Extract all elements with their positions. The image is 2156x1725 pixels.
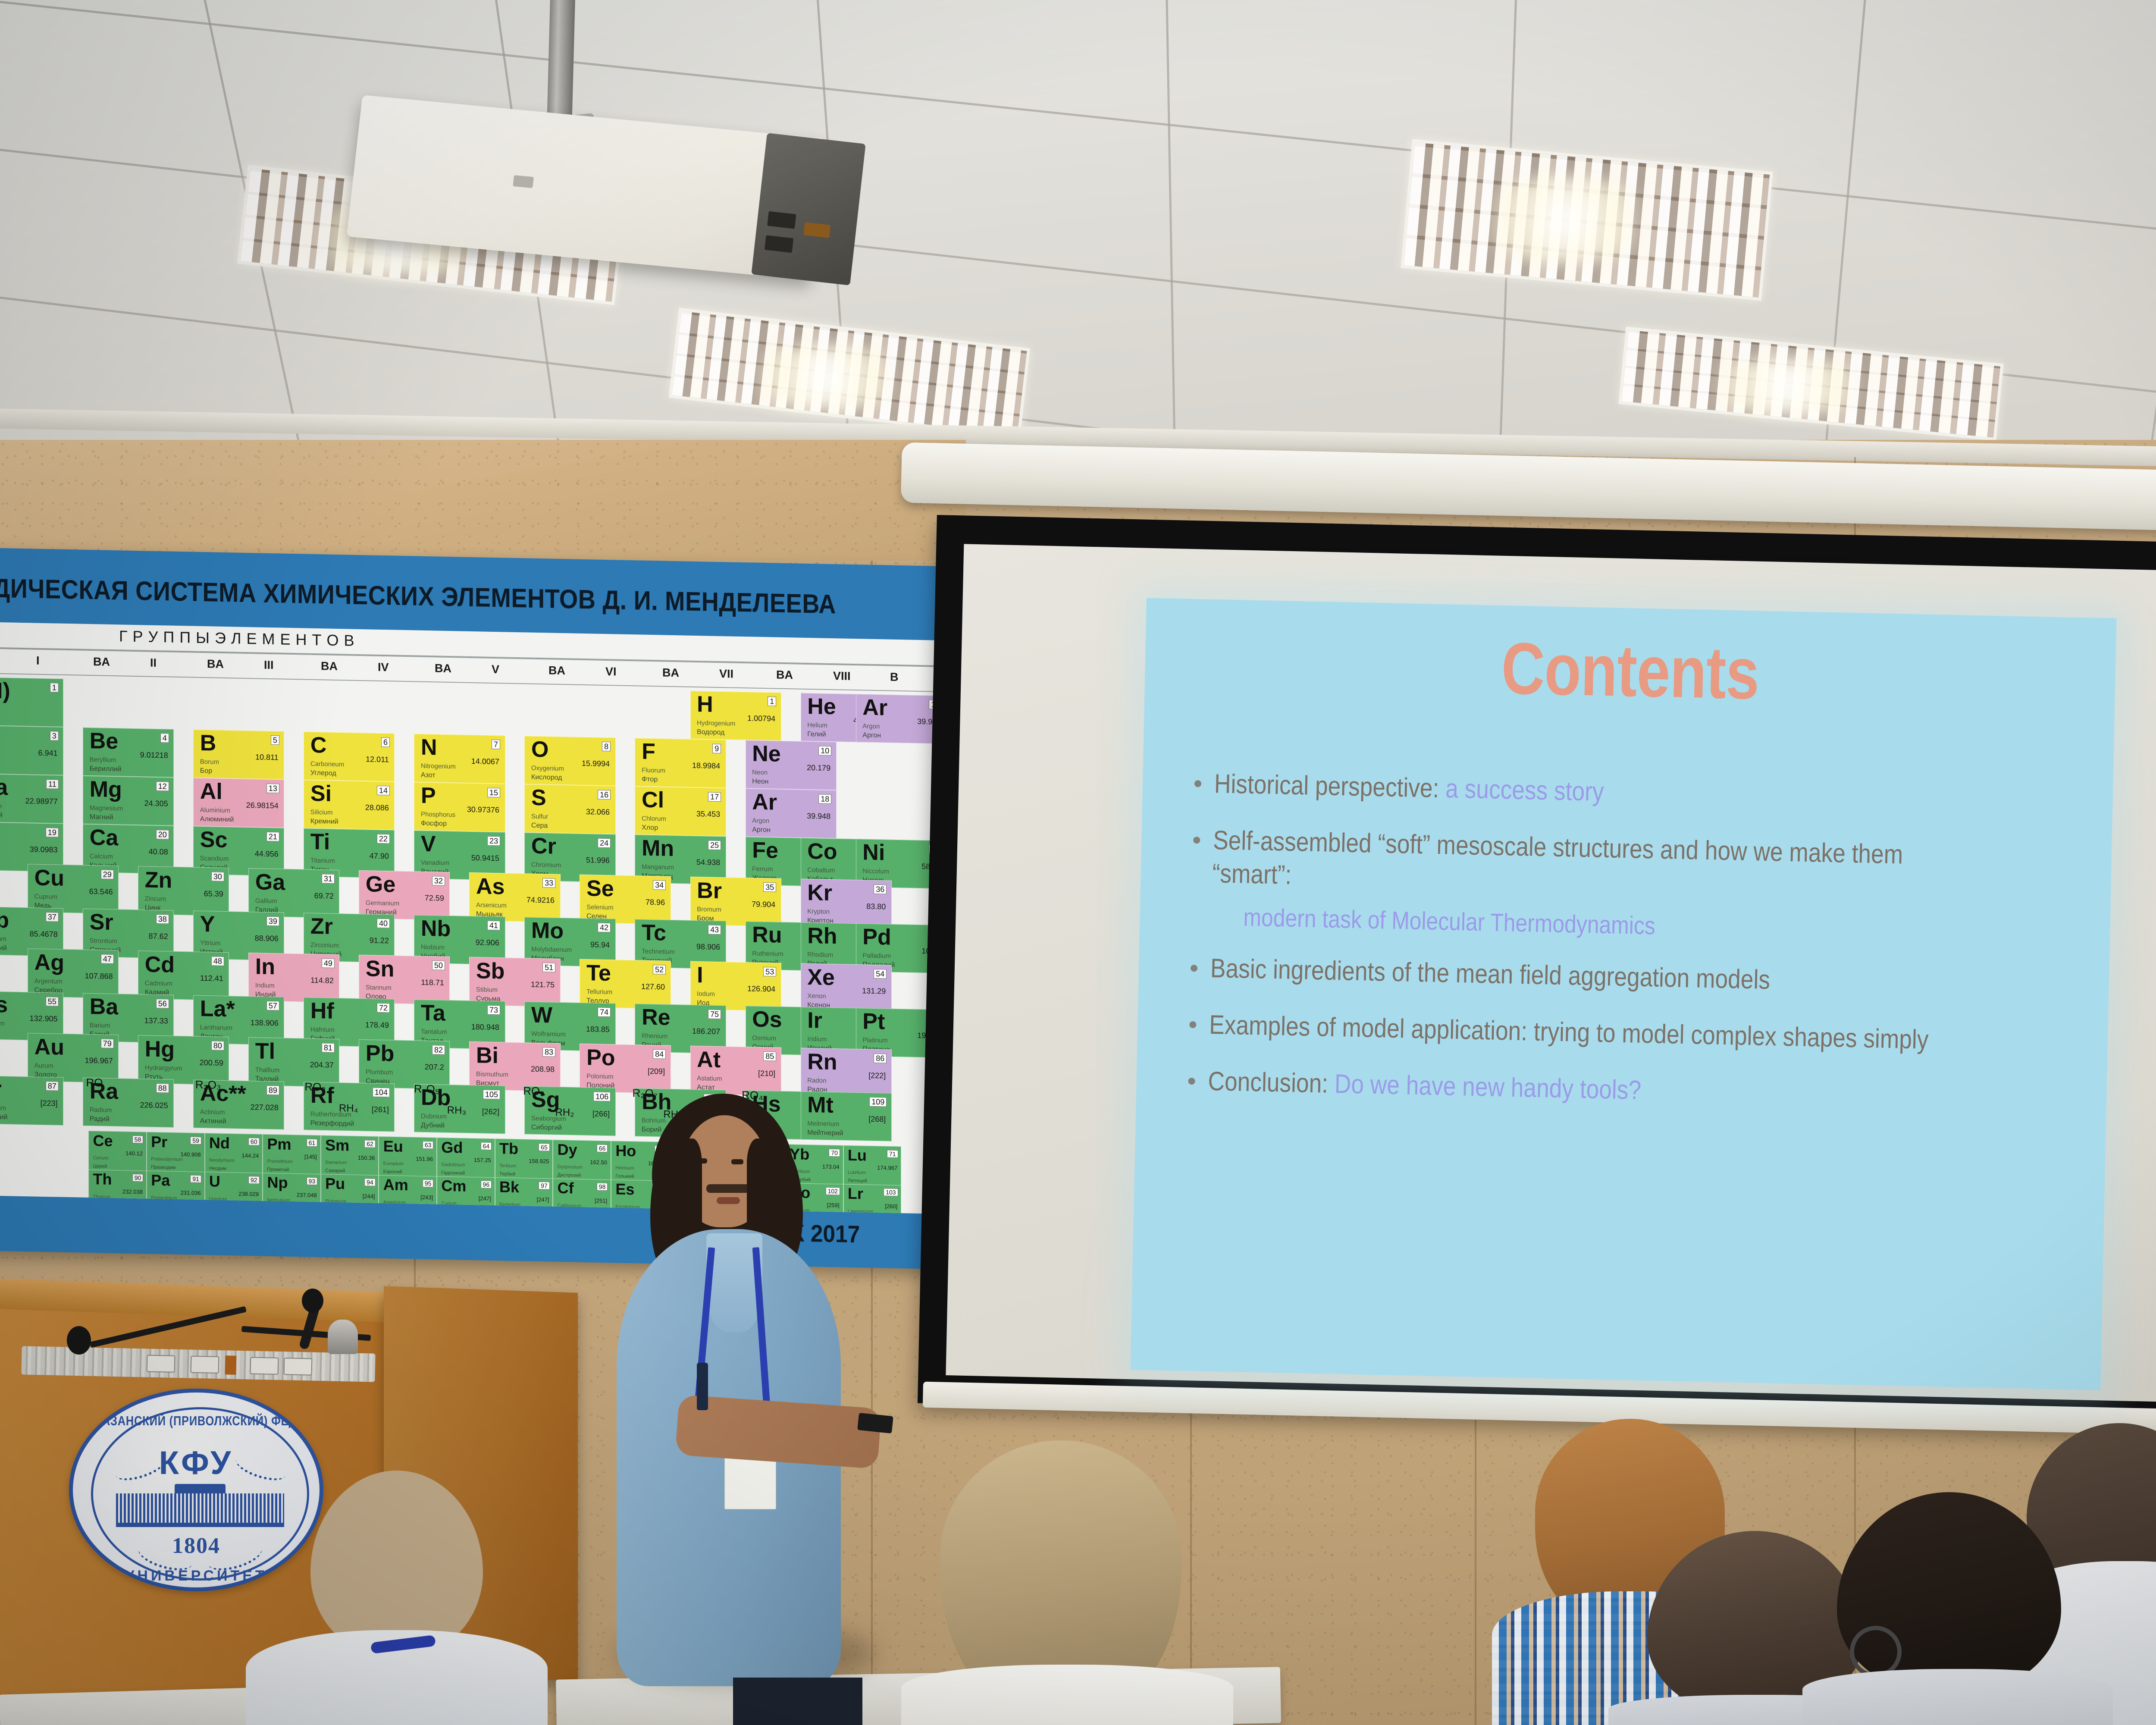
element-name-latin: Technetium <box>642 948 675 955</box>
slide-bullet-text: Conclusion: Do we have new handy tools? <box>1208 1065 1948 1114</box>
element-number: 23 <box>487 836 500 846</box>
element-symbol: Pr <box>151 1134 167 1150</box>
element-number: 72 <box>377 1003 390 1013</box>
element-number: 80 <box>211 1041 224 1051</box>
element-name-latin: Indium <box>255 982 275 989</box>
element-mass: 98.906 <box>696 943 720 951</box>
element-symbol: Bi <box>476 1044 498 1067</box>
element-name-latin: Wolframium <box>531 1031 566 1038</box>
element-name-latin: Stannum <box>366 984 392 991</box>
element-name-russian: Празеодим <box>151 1165 175 1170</box>
element-symbol: Cr <box>531 835 556 858</box>
element-mass: [261] <box>372 1105 389 1113</box>
presenter-mustache <box>706 1184 749 1193</box>
element-number: 58 <box>132 1135 144 1143</box>
slide-bullet-text: Examples of model application: trying to… <box>1209 1009 1949 1057</box>
element-symbol: Fr <box>0 1078 2 1101</box>
element-number: 12 <box>156 781 169 791</box>
element-name-latin: Thallium <box>255 1066 280 1073</box>
hydride-formula: RH₃ <box>447 1104 466 1117</box>
lecture-hall-photo: ПЕРИОДИЧЕСКАЯ СИСТЕМА ХИМИЧЕСКИХ ЭЛЕМЕНТ… <box>0 0 2156 1725</box>
element-mass: 138.906 <box>251 1019 279 1027</box>
element-name-russian: Кюрий <box>441 1209 455 1214</box>
element-symbol: P <box>421 784 436 807</box>
element-cell: Eu63151.96EuropiumЕвропий <box>379 1136 437 1178</box>
element-cell: Ag47107.868ArgentumСеребро <box>28 948 119 998</box>
projector-rear-panel <box>751 133 865 285</box>
presenter-eye-right <box>731 1159 743 1164</box>
element-mass: 6.941 <box>38 749 58 757</box>
slide-sub-line: modern task of Molecular Thermodynamics <box>1243 902 1955 947</box>
element-name-latin: Strontium <box>90 938 117 944</box>
element-number: 6 <box>381 737 390 747</box>
element-name-russian: Тербий <box>499 1172 515 1177</box>
element-name-latin: Carboneum <box>310 761 344 768</box>
element-name-latin: Palladium <box>862 953 891 960</box>
element-cell: Tl81204.37ThalliumТаллий <box>248 1037 339 1087</box>
element-number: 93 <box>307 1177 318 1185</box>
element-number: 22 <box>377 834 390 844</box>
element-mass: 22.98977 <box>25 797 58 805</box>
element-cell: Gd64157.25GadoliniumГадолиний <box>437 1138 495 1179</box>
element-number: 88 <box>156 1083 169 1093</box>
element-cell: Al1326.98154AluminiumАлюминий <box>193 778 284 828</box>
element-symbol: Hg <box>145 1038 175 1060</box>
element-name-latin: Sulfur <box>531 813 548 820</box>
element-cell: Pa91231.036ProtactiniumПротактиний <box>147 1170 205 1212</box>
element-mass: 47.90 <box>370 852 389 860</box>
element-name-latin: Calcium <box>90 853 113 860</box>
element-name-latin: Silicium <box>310 809 333 816</box>
presenter <box>595 1087 880 1690</box>
element-name-latin: Manganum <box>642 864 674 871</box>
element-mass: 26.98154 <box>246 801 279 809</box>
hydride-formula: RH₄ <box>339 1102 358 1115</box>
element-symbol: (H) <box>0 679 10 702</box>
element-name-latin: Scandium <box>200 855 229 862</box>
presenter-pointer <box>857 1413 893 1433</box>
element-name-russian: Гадолиний <box>441 1170 465 1176</box>
element-name-russian: Диспрозий <box>558 1173 581 1178</box>
element-symbol: B <box>200 732 216 755</box>
element-symbol: Tl <box>255 1040 275 1063</box>
element-name-russian: Уран <box>209 1205 220 1210</box>
element-number: 1 <box>50 683 59 692</box>
slide-bullet: Self-assembled “soft” mesoscale structur… <box>1192 824 2073 908</box>
element-name-russian: Водород <box>697 729 724 736</box>
element-mass: 178.49 <box>365 1021 389 1029</box>
element-cell: Hg80200.59HydrargyrumРтуть <box>138 1035 229 1085</box>
element-mass: [222] <box>868 1071 886 1079</box>
element-name-latin: Nitrogenium <box>421 763 456 770</box>
groups-header: Г Р У П П Ы Э Л Е М Е Н Т О В <box>119 627 355 649</box>
element-number: 47 <box>101 954 114 964</box>
element-name-latin: Cerium <box>93 1156 108 1161</box>
slide-bullet: Historical perspective: a success story <box>1194 767 2074 819</box>
element-mass: 207.2 <box>425 1063 444 1071</box>
group-label: BA <box>207 657 224 671</box>
presenter-trousers <box>733 1678 862 1725</box>
element-symbol: N <box>421 736 437 759</box>
element-number: 104 <box>373 1087 390 1097</box>
element-number: 17 <box>708 792 721 802</box>
element-mass: 78.96 <box>646 898 665 906</box>
element-cell: Np93237.048NeptuniumНептуний <box>263 1173 321 1214</box>
element-number: 36 <box>874 884 887 894</box>
element-name-latin: Aurum <box>34 1062 53 1069</box>
element-cell: Ce58140.12CeriumЦерий <box>88 1131 147 1173</box>
group-label: BA <box>776 668 793 682</box>
element-name-latin: Zincum <box>145 895 166 902</box>
bullet-dot-icon <box>1193 837 1200 844</box>
element-mass: 204.37 <box>310 1061 334 1069</box>
audience-member <box>241 1466 552 1725</box>
element-name-russian: Дубний <box>421 1122 445 1129</box>
element-name-russian: Рубидий <box>0 944 7 952</box>
oxide-formula: R₂O₅ <box>414 1082 440 1096</box>
element-cell: As3374.9216ArsenicumМышьяк <box>469 872 560 922</box>
element-cell: Te52127.60TelluriumТеллур <box>580 959 671 1009</box>
element-symbol: Cu <box>34 866 64 889</box>
element-symbol: Se <box>586 877 614 900</box>
element-name-latin: Actinium <box>200 1109 225 1116</box>
element-mass: 238.029 <box>238 1191 259 1197</box>
bullet-dot-icon <box>1189 1021 1196 1028</box>
element-name-russian: Протактиний <box>151 1204 179 1209</box>
group-label: VIII <box>833 669 851 683</box>
element-mass: [262] <box>482 1107 499 1116</box>
element-name-latin: Barium <box>90 1022 110 1029</box>
presenter-pen <box>697 1363 708 1410</box>
element-symbol: Si <box>310 782 332 805</box>
oxide-formula: R₂O₃ <box>195 1078 221 1092</box>
element-mass: 1.00794 <box>747 714 775 722</box>
element-symbol: Ag <box>34 951 64 974</box>
element-name-latin: Hydrogenium <box>697 720 735 727</box>
element-mass: [223] <box>41 1099 58 1107</box>
element-cell: H11.00794HydrogeniumВодород <box>690 691 781 741</box>
element-mass: 65.39 <box>204 890 223 898</box>
element-number: 81 <box>322 1043 335 1053</box>
group-label: B <box>890 671 899 684</box>
element-number: 54 <box>874 969 887 979</box>
element-mass: 40.08 <box>149 847 168 856</box>
group-label: BA <box>548 664 565 677</box>
element-symbol: Ca <box>90 826 118 849</box>
element-name-latin: Stibium <box>476 986 498 993</box>
element-symbol: Pd <box>862 926 891 949</box>
element-cell: (H)1 <box>0 677 63 727</box>
element-mass: 144.24 <box>241 1152 259 1158</box>
element-number: 50 <box>432 960 445 970</box>
element-mass: 18.9984 <box>692 761 720 769</box>
element-number: 84 <box>653 1049 666 1059</box>
element-number: 31 <box>322 874 335 884</box>
element-name-latin: Hafnium <box>310 1026 335 1033</box>
element-number: 60 <box>248 1138 260 1145</box>
presenter-mouth <box>717 1197 740 1204</box>
element-name-latin: Neon <box>752 769 768 776</box>
element-name-russian: Европий <box>383 1170 402 1175</box>
element-number: 97 <box>539 1182 550 1189</box>
element-name-russian: Фосфор <box>421 820 447 828</box>
element-number: 34 <box>653 880 666 890</box>
element-number: 89 <box>266 1085 279 1095</box>
element-number: 105 <box>483 1089 500 1099</box>
attendee-head <box>310 1471 483 1656</box>
element-mass: 83.80 <box>866 902 886 910</box>
element-number: 49 <box>322 958 335 968</box>
element-name-latin: Iridium <box>807 1036 827 1043</box>
element-mass: 79.904 <box>752 900 775 908</box>
element-mass: [260] <box>885 1204 897 1210</box>
element-symbol: He <box>807 695 836 718</box>
element-symbol: S <box>531 787 546 809</box>
element-symbol: In <box>255 955 275 978</box>
element-mass: 39.948 <box>807 812 830 820</box>
element-symbol: Os <box>752 1008 782 1031</box>
element-name-latin: Curium <box>441 1201 456 1207</box>
element-symbol: Ar <box>752 791 777 814</box>
element-cell: Am95[243]AmericiumАмериций <box>379 1175 437 1214</box>
presentation-slide: Contents Historical perspective: a succe… <box>1131 598 2117 1390</box>
element-cell: Br3579.904BromumБром <box>690 877 781 927</box>
element-symbol: V <box>421 833 436 856</box>
element-mass: 74.9216 <box>526 896 555 904</box>
element-cell: Au79196.967AurumЗолото <box>28 1033 119 1083</box>
element-symbol: Po <box>586 1046 615 1069</box>
element-mass: 10.811 <box>255 753 279 761</box>
element-name-latin: Praseodymium <box>151 1157 182 1162</box>
element-mass: 72.59 <box>425 894 444 902</box>
element-number: 40 <box>377 919 390 928</box>
element-number: 39 <box>266 916 279 926</box>
element-number: 52 <box>653 965 666 975</box>
element-cell: Fr87[223]FranciumФранций <box>0 1076 63 1126</box>
element-mass: [247] <box>537 1197 549 1203</box>
element-name-latin: Americium <box>383 1200 406 1205</box>
element-name-latin: Uranium <box>209 1197 227 1202</box>
element-number: 25 <box>708 840 721 850</box>
element-symbol: Cs <box>0 993 8 1016</box>
element-symbol: Rn <box>807 1051 837 1073</box>
element-name-latin: Helium <box>807 722 827 729</box>
element-name-latin: Iodum <box>697 991 715 997</box>
element-number: 86 <box>874 1054 887 1063</box>
element-symbol: Kr <box>807 881 832 904</box>
element-cell: Na1122.98977NatriumНатрий <box>0 774 63 824</box>
element-symbol: Zr <box>310 915 333 938</box>
element-mass: 112.41 <box>200 974 223 982</box>
element-name-latin: Argon <box>752 818 769 825</box>
attendee-torso <box>901 1665 1233 1725</box>
element-cell: Pr59140.908PraseodymiumПразеодим <box>147 1132 205 1174</box>
element-cell: Pm61[145]PromethiumПрометий <box>263 1134 321 1176</box>
element-cell: Pb82207.2PlumbumСвинец <box>359 1039 450 1089</box>
element-mass: 107.868 <box>85 972 113 980</box>
element-name-russian: Магний <box>90 814 113 821</box>
element-cell: Zn3065.39ZincumЦинк <box>138 866 229 916</box>
element-symbol: Al <box>200 780 222 803</box>
element-name-latin: Gallium <box>255 897 277 904</box>
element-mass: 39.0983 <box>30 845 58 853</box>
microphone-head <box>67 1326 91 1355</box>
element-symbol: Hf <box>310 1000 334 1022</box>
element-number: 30 <box>211 872 224 881</box>
element-mass: 118.71 <box>421 979 444 987</box>
bullet-dot-icon <box>1194 780 1201 787</box>
element-symbol: Ni <box>862 841 885 864</box>
element-cell: In49114.82IndiumИндий <box>248 953 339 1003</box>
element-name-russian: Азот <box>421 772 436 779</box>
element-mass: 12.011 <box>366 755 389 763</box>
element-mass: 44.956 <box>255 850 279 858</box>
element-name-latin: Titanium <box>310 857 335 864</box>
element-name-latin: Chromium <box>531 862 561 869</box>
element-name-russian: Берклий <box>499 1211 518 1214</box>
element-number: 57 <box>266 1001 279 1011</box>
group-label: III <box>264 659 274 672</box>
element-name-latin: Phosphorus <box>421 811 455 819</box>
bullet-dot-icon <box>1188 1078 1195 1085</box>
element-number: 61 <box>307 1138 318 1146</box>
element-cell: Nd60144.24NeodymiumНеодим <box>205 1133 263 1175</box>
element-number: 32 <box>432 876 445 886</box>
element-symbol: Co <box>807 840 837 863</box>
element-mass: 227.028 <box>251 1103 279 1111</box>
element-cell: Bk97[247]BerkeliumБерклий <box>495 1177 553 1214</box>
element-mass: 20.179 <box>807 764 830 772</box>
element-symbol: Re <box>642 1006 670 1029</box>
element-number: 9 <box>712 744 721 753</box>
element-name-latin: Samarium <box>325 1160 347 1166</box>
element-name-latin: Thorium <box>93 1195 110 1200</box>
element-name-latin: Germanium <box>366 900 399 907</box>
element-name-latin: Berkelium <box>499 1202 520 1207</box>
element-number: 56 <box>156 999 169 1009</box>
group-label: BA <box>93 655 110 669</box>
element-mass: 157.25 <box>474 1157 491 1163</box>
poster-title: ПЕРИОДИЧЕСКАЯ СИСТЕМА ХИМИЧЕСКИХ ЭЛЕМЕНТ… <box>0 571 836 620</box>
element-mass: 85.4678 <box>30 930 58 938</box>
element-mass: 137.33 <box>144 1016 168 1025</box>
element-mass: 54.938 <box>696 858 720 866</box>
element-name-russian: Хлор <box>642 825 658 832</box>
element-mass: [247] <box>479 1195 491 1201</box>
element-number: 1 <box>768 696 776 706</box>
element-cell: Cd48112.41CadmiumКадмий <box>138 950 229 1000</box>
element-number: 10 <box>818 746 831 756</box>
element-cell: Ga3169.72GalliumГаллий <box>248 868 339 918</box>
element-mass: 127.60 <box>641 982 665 991</box>
element-symbol: Cd <box>145 953 175 976</box>
element-symbol: Np <box>267 1175 288 1191</box>
element-number: 14 <box>377 786 390 796</box>
element-cell: Cu2963.546CuprumМедь <box>28 864 119 914</box>
element-cell: Xe54131.29XenonКсенон <box>801 963 892 1013</box>
element-mass: 69.72 <box>314 892 334 900</box>
element-symbol: Sb <box>476 960 505 982</box>
element-number: 37 <box>46 912 59 922</box>
element-symbol: Gd <box>441 1140 463 1156</box>
element-name-latin: Selenium <box>586 904 614 911</box>
group-label: VII <box>719 667 733 681</box>
element-name-russian: Актиний <box>200 1118 226 1125</box>
element-number: 55 <box>46 997 59 1007</box>
element-cell: F918.9984FluorumФтор <box>635 738 726 788</box>
element-symbol: Sn <box>366 957 394 980</box>
element-mass: [145] <box>304 1154 317 1160</box>
element-symbol: C <box>310 734 327 757</box>
element-name-russian: Америций <box>383 1208 406 1213</box>
element-name-latin: Europium <box>383 1161 404 1167</box>
emblem-ring-top-text: КАЗАНСКИЙ (ПРИВОЛЖСКИЙ) ФЕДЕРАЛЬНЫЙ <box>95 1413 297 1429</box>
element-name-latin: Borum <box>200 759 219 765</box>
element-symbol: Y <box>200 913 215 936</box>
slide-bullet: Basic ingredients of the mean field aggr… <box>1190 952 2070 1004</box>
element-name-latin: Terbium <box>499 1164 516 1169</box>
element-cell: Cl1735.453ChlorumХлор <box>635 786 726 836</box>
element-number: 90 <box>132 1174 144 1182</box>
group-label: I <box>36 654 40 668</box>
element-number: 21 <box>266 832 279 842</box>
element-symbol: Ga <box>255 871 285 894</box>
oxide-formula: RO <box>86 1076 103 1090</box>
element-name-latin: Hydrargyrum <box>145 1064 182 1072</box>
element-name-latin: Plumbum <box>366 1069 393 1076</box>
element-cell: O815.9994OxygeniumКислород <box>524 736 615 786</box>
slide-bullet-accent: a success story <box>1445 774 1604 807</box>
element-name-latin: Cobaltum <box>807 867 835 874</box>
attendee-torso <box>1802 1669 2113 1725</box>
slide-bullet-text: Historical perspective: a success story <box>1214 768 1954 816</box>
element-name-latin: Neodymium <box>209 1158 235 1164</box>
slide-title: Contents <box>1232 621 2029 722</box>
element-number: 20 <box>156 830 169 840</box>
microphone-head-secondary <box>302 1289 323 1313</box>
element-mass: 87.62 <box>149 932 168 940</box>
element-cell: U92238.029UraniumУран <box>205 1172 263 1214</box>
element-name-latin: Arsenicum <box>476 902 507 909</box>
element-mass: 88.906 <box>255 934 279 942</box>
audience-member <box>1802 1492 2113 1725</box>
element-name-russian: Торий <box>93 1202 106 1207</box>
element-name-latin: Xenon <box>807 993 826 1000</box>
bullet-dot-icon <box>1191 965 1197 972</box>
element-symbol: Ta <box>421 1002 445 1025</box>
element-name-latin: Californium <box>558 1204 582 1209</box>
element-number: 38 <box>156 914 169 924</box>
group-label: BA <box>662 666 679 680</box>
attendee-glasses <box>1850 1626 1902 1678</box>
element-name-latin: Krypton <box>807 908 830 915</box>
element-number: 13 <box>266 784 279 793</box>
element-symbol: Ne <box>752 743 780 765</box>
emblem-building-roof <box>175 1484 226 1493</box>
element-symbol: Xe <box>807 966 835 989</box>
element-number: 41 <box>487 920 500 930</box>
element-name-latin: Vanadium <box>421 859 449 866</box>
element-name-russian: Бор <box>200 768 212 775</box>
element-cell: Ge3272.59GermaniumГерманий <box>359 870 450 920</box>
element-name-latin: Radium <box>90 1107 112 1113</box>
group-label: V <box>492 663 499 676</box>
element-name-russian: Неон <box>752 778 768 786</box>
element-symbol: La* <box>200 997 235 1021</box>
element-number: 3 <box>50 731 59 740</box>
element-number: 4 <box>160 733 169 743</box>
element-name-latin: Fluorum <box>642 767 665 774</box>
